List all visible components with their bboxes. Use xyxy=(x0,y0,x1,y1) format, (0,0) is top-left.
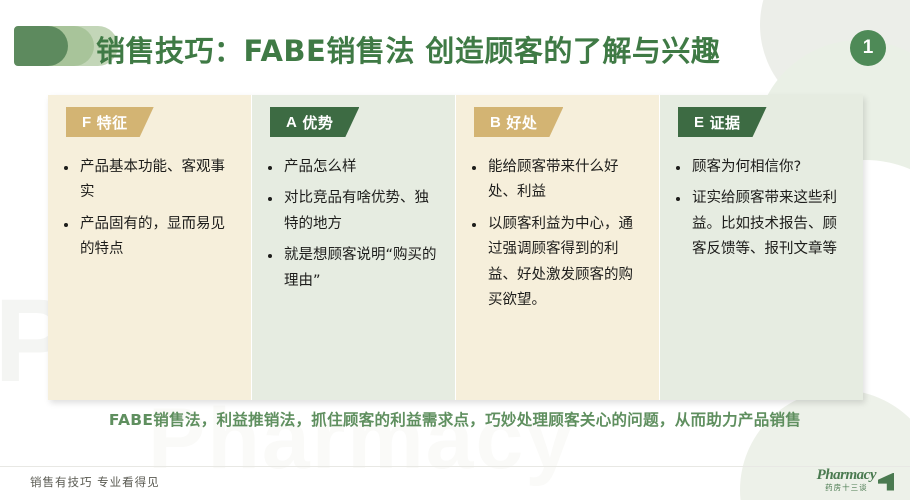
fabe-card-feature[interactable]: F 特征 产品基本功能、客观事实 产品固有的，显而易见的特点 xyxy=(48,95,252,400)
card-tag-evidence: E 证据 xyxy=(678,107,767,137)
footer-divider xyxy=(0,466,910,467)
list-item: 证实给顾客带来这些利益。比如技术报告、顾客反馈等、报刊文章等 xyxy=(672,186,847,262)
brand-logo: Pharmacy 药房十三谈 xyxy=(817,468,894,492)
footer-tagline: 销售有技巧 专业看得见 xyxy=(30,474,160,490)
list-item: 产品基本功能、客观事实 xyxy=(60,155,235,206)
logo-text-block: Pharmacy 药房十三谈 xyxy=(817,468,876,492)
pharmacy-mark-icon xyxy=(878,473,894,491)
card-tag-feature: F 特征 xyxy=(66,107,154,137)
list-item: 以顾客利益为中心，通过强调顾客得到的利益、好处激发顾客的购买欲望。 xyxy=(468,212,643,314)
card-bullet-list: 能给顾客带来什么好处、利益 以顾客利益为中心，通过强调顾客得到的利益、好处激发顾… xyxy=(468,155,643,313)
fabe-card-advantage[interactable]: A 优势 产品怎么样 对比竞品有啥优势、独特的地方 就是想顾客说明“购买的理由” xyxy=(252,95,456,400)
card-bullet-list: 产品怎么样 对比竞品有啥优势、独特的地方 就是想顾客说明“购买的理由” xyxy=(264,155,439,294)
card-tag-letter: B xyxy=(490,114,501,131)
step-number-badge: 1 xyxy=(850,30,886,66)
card-tag-benefit: B 好处 xyxy=(474,107,563,137)
logo-wordmark: Pharmacy xyxy=(817,468,876,483)
card-tag-label: 优势 xyxy=(302,112,333,133)
list-item: 就是想顾客说明“购买的理由” xyxy=(264,243,439,294)
card-bullet-list: 顾客为何相信你? 证实给顾客带来这些利益。比如技术报告、顾客反馈等、报刊文章等 xyxy=(672,155,847,263)
summary-caption: FABE销售法，利益推销法，抓住顾客的利益需求点，巧妙处理顾客关心的问题，从而助… xyxy=(0,408,910,430)
fabe-card-row: F 特征 产品基本功能、客观事实 产品固有的，显而易见的特点 A 优势 产品怎么… xyxy=(48,95,863,400)
card-tag-letter: E xyxy=(694,114,705,131)
leaf-shape-dark xyxy=(14,26,68,66)
card-bullet-list: 产品基本功能、客观事实 产品固有的，显而易见的特点 xyxy=(60,155,235,263)
list-item: 产品固有的，显而易见的特点 xyxy=(60,212,235,263)
card-tag-advantage: A 优势 xyxy=(270,107,359,137)
slide-header: 销售技巧：FABE销售法 创造顾客的了解与兴趣 1 xyxy=(0,14,910,76)
card-tag-label: 特征 xyxy=(97,112,128,133)
list-item: 对比竞品有啥优势、独特的地方 xyxy=(264,186,439,237)
fabe-card-benefit[interactable]: B 好处 能给顾客带来什么好处、利益 以顾客利益为中心，通过强调顾客得到的利益、… xyxy=(456,95,660,400)
slide-canvas: P Pharmacy 销售技巧：FABE销售法 创造顾客的了解与兴趣 1 F 特… xyxy=(0,0,910,500)
list-item: 能给顾客带来什么好处、利益 xyxy=(468,155,643,206)
card-tag-label: 好处 xyxy=(506,112,537,133)
logo-subtitle: 药房十三谈 xyxy=(825,484,868,492)
page-title: 销售技巧：FABE销售法 创造顾客的了解与兴趣 xyxy=(96,28,720,70)
fabe-card-evidence[interactable]: E 证据 顾客为何相信你? 证实给顾客带来这些利益。比如技术报告、顾客反馈等、报… xyxy=(660,95,863,400)
card-tag-letter: A xyxy=(286,114,297,131)
list-item: 顾客为何相信你? xyxy=(672,155,847,180)
card-tag-letter: F xyxy=(82,114,92,131)
list-item: 产品怎么样 xyxy=(264,155,439,180)
card-tag-label: 证据 xyxy=(710,112,741,133)
